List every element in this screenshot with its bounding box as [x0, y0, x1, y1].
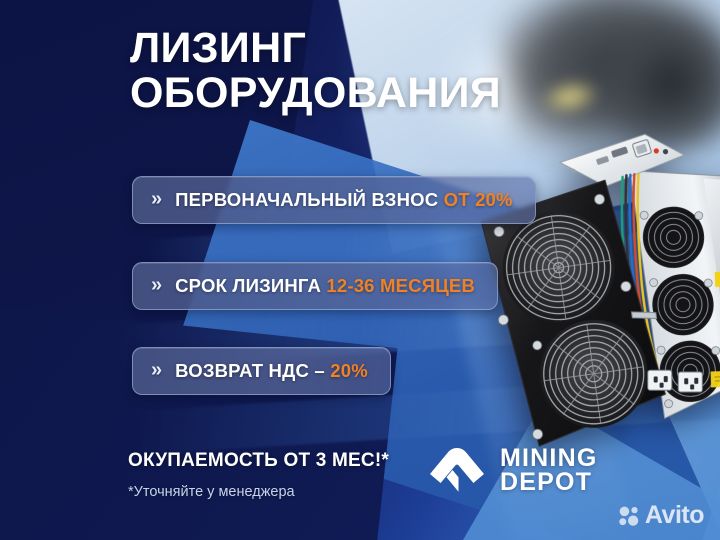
mining-depot-logo[interactable]: MINING DEPOT — [428, 444, 597, 496]
feature-pill-text: ВОЗВРАТ НДС – 20% — [175, 360, 368, 382]
feature-pill-lease-term[interactable]: » СРОК ЛИЗИНГА 12-36 МЕСЯЦЕВ — [132, 262, 498, 310]
manager-footnote: *Уточняйте у менеджера — [128, 484, 295, 500]
avito-watermark: Avito — [618, 501, 704, 530]
leasing-promo-banner: ЛИЗИНГ ОБОРУДОВАНИЯ » ПЕРВОНАЧАЛЬНЫЙ ВЗН… — [0, 0, 720, 540]
chevron-arch-icon — [428, 444, 486, 496]
background-blur-yellow — [538, 75, 603, 119]
headline: ЛИЗИНГ ОБОРУДОВАНИЯ — [130, 26, 501, 116]
background-wedge-dark — [0, 300, 397, 540]
headline-line-1: ЛИЗИНГ — [130, 26, 501, 71]
logo-wordmark: MINING DEPOT — [500, 446, 597, 494]
chevron-double-right-icon: » — [151, 275, 162, 295]
feature-pill-text: СРОК ЛИЗИНГА 12-36 МЕСЯЦЕВ — [175, 275, 475, 297]
feature-highlight: ОТ 20% — [444, 189, 513, 210]
feature-pill-down-payment[interactable]: » ПЕРВОНАЧАЛЬНЫЙ ВЗНОС ОТ 20% — [132, 176, 536, 224]
feature-pill-vat-refund[interactable]: » ВОЗВРАТ НДС – 20% — [132, 347, 391, 395]
logo-word-1: MINING — [500, 446, 597, 470]
avito-dots-icon — [618, 505, 640, 527]
logo-word-2: DEPOT — [500, 470, 597, 494]
payback-claim: ОКУПАЕМОСТЬ ОТ 3 МЕС!* — [128, 450, 389, 472]
feature-pill-text: ПЕРВОНАЧАЛЬНЫЙ ВЗНОС ОТ 20% — [175, 189, 513, 211]
feature-highlight: 20% — [330, 360, 368, 381]
avito-wordmark: Avito — [645, 501, 704, 530]
headline-line-2: ОБОРУДОВАНИЯ — [130, 71, 501, 116]
feature-highlight: 12-36 МЕСЯЦЕВ — [326, 275, 475, 296]
chevron-double-right-icon: » — [151, 189, 162, 209]
chevron-double-right-icon: » — [151, 360, 162, 380]
